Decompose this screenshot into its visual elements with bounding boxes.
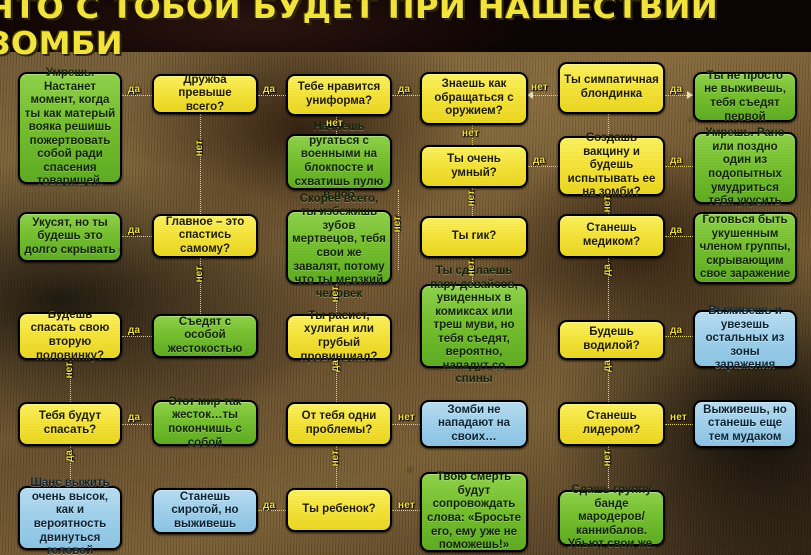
edge-label-e7: нет — [326, 118, 343, 129]
edge-label-e21: да — [602, 264, 613, 276]
edge-label-e32: нет — [398, 500, 415, 511]
node-n2[interactable]: Дружба превыше всего? — [152, 74, 258, 114]
edge-label-e27: да — [602, 360, 613, 372]
connector-n11-n12 — [122, 236, 152, 237]
edge-label-e29: нет — [330, 450, 341, 466]
connector-n25-n26 — [392, 424, 420, 425]
node-n29[interactable]: Шанс выжить очень высок, как и вероятнос… — [18, 486, 122, 550]
edge-label-e10: да — [670, 155, 682, 166]
node-n24[interactable]: Этот мир так жесток…ты покончишь с собой — [152, 400, 258, 446]
zombie-flowchart-infographic: Что с тобой будет при нашествии зомби Ум… — [0, 0, 811, 555]
node-n28[interactable]: Выживешь, но станешь еще тем мудаком — [693, 400, 797, 448]
connector-n18-n19 — [122, 336, 152, 337]
node-n31[interactable]: Ты ребенок? — [286, 488, 392, 532]
edge-label-e6: нет — [194, 140, 205, 156]
node-n20[interactable]: Ты расист, хулиган или грубый провинциал… — [286, 314, 392, 360]
node-n26[interactable]: Зомби не нападают на своих… — [420, 400, 528, 448]
node-n4[interactable]: Знаешь как обращаться с оружием? — [420, 72, 528, 125]
connector-n3-n4 — [392, 95, 420, 96]
node-n11[interactable]: Укусят, но ты будешь это долго скрывать — [18, 212, 122, 262]
node-n19[interactable]: Съедят с особой жестокостью — [152, 314, 258, 358]
connector-n21-n22 — [665, 336, 693, 337]
edge-label-e25: нет — [64, 362, 75, 378]
node-n8[interactable]: Ты очень умный? — [420, 145, 528, 188]
edge-label-e11: да — [128, 225, 140, 236]
edge-label-e12: да — [670, 225, 682, 236]
edge-label-e31: да — [263, 500, 275, 511]
node-n32[interactable]: Твою смерть будут сопровождать слова: «Б… — [420, 472, 528, 552]
edge-label-e30: нет — [602, 450, 613, 466]
edge-label-e26: да — [330, 360, 341, 372]
edge-label-e18: да — [670, 325, 682, 336]
connector-n8-n9 — [528, 166, 558, 167]
connector-n1-n2 — [122, 95, 152, 96]
node-n18[interactable]: Будешь спасать свою вторую половинку? — [18, 312, 122, 360]
node-n22[interactable]: Выживешь и увезешь остальных из зоны зар… — [693, 310, 797, 368]
node-n3[interactable]: Тебе нравится униформа? — [286, 74, 392, 116]
connector-n23-n24 — [122, 424, 152, 425]
edge-label-e15: нет — [602, 196, 613, 212]
node-n6[interactable]: Ты не просто не выживешь, тебя съедят пе… — [693, 72, 797, 122]
node-n30[interactable]: Станешь сиротой, но выживешь — [152, 488, 258, 534]
connector-n2-n12 — [200, 114, 201, 214]
edge-label-e17: да — [128, 325, 140, 336]
edge-label-e19: нет — [330, 286, 341, 302]
edge-label-e28: да — [64, 450, 75, 462]
node-n7[interactable]: Начнешь ругаться с военными на блокпосте… — [286, 134, 392, 190]
page-title: Что с тобой будет при нашествии зомби — [0, 0, 811, 52]
edge-label-e2: да — [263, 84, 275, 95]
edge-label-e4: нет — [531, 82, 548, 93]
edge-label-e13: нет — [392, 216, 403, 232]
edge-label-e5: да — [670, 84, 682, 95]
node-n25[interactable]: От тебя одни проблемы? — [286, 402, 392, 446]
node-n21[interactable]: Будешь водилой? — [558, 320, 665, 360]
edge-label-e23: нет — [398, 412, 415, 423]
edge-label-e16: нет — [194, 266, 205, 282]
connector-n15-n16 — [665, 236, 693, 237]
node-n27[interactable]: Станешь лидером? — [558, 402, 665, 446]
node-n17[interactable]: Ты сделаешь пару девайсов, увиденных в к… — [420, 284, 528, 368]
edge-label-e3: да — [398, 84, 410, 95]
edge-label-e20: нет — [466, 260, 477, 276]
edge-label-e22: да — [128, 412, 140, 423]
edge-label-e14: нет — [466, 190, 477, 206]
node-n23[interactable]: Тебя будут спасать? — [18, 402, 122, 446]
connector-n9-n10 — [665, 166, 693, 167]
node-n33[interactable]: Сдашь группу банде мародеров/каннибалов.… — [558, 490, 665, 546]
node-n12[interactable]: Главное – это спастись самому? — [152, 214, 258, 258]
node-n5[interactable]: Ты симпатичная блондинка — [558, 62, 665, 114]
edge-label-e24: нет — [670, 412, 687, 423]
node-n15[interactable]: Станешь медиком? — [558, 214, 665, 258]
connector-n2-n3 — [258, 95, 286, 96]
node-n10[interactable]: Умрешь. Рано или поздно один из подопытн… — [693, 132, 797, 204]
edge-label-e9: да — [533, 155, 545, 166]
node-n1[interactable]: Умрешь. Настанет момент, когда ты как ма… — [18, 72, 122, 184]
connector-n27-n28 — [665, 424, 693, 425]
node-n9[interactable]: Создашь вакцину и будешь испытывать ее н… — [558, 136, 665, 196]
edge-label-e1: да — [128, 84, 140, 95]
node-n14[interactable]: Ты гик? — [420, 216, 528, 258]
edge-label-e8: нет — [462, 128, 479, 139]
node-n13[interactable]: Скорее всего, ты избежишь зубов мертвецо… — [286, 210, 392, 284]
node-n16[interactable]: Готовься быть укушенным членом группы, с… — [693, 212, 797, 284]
